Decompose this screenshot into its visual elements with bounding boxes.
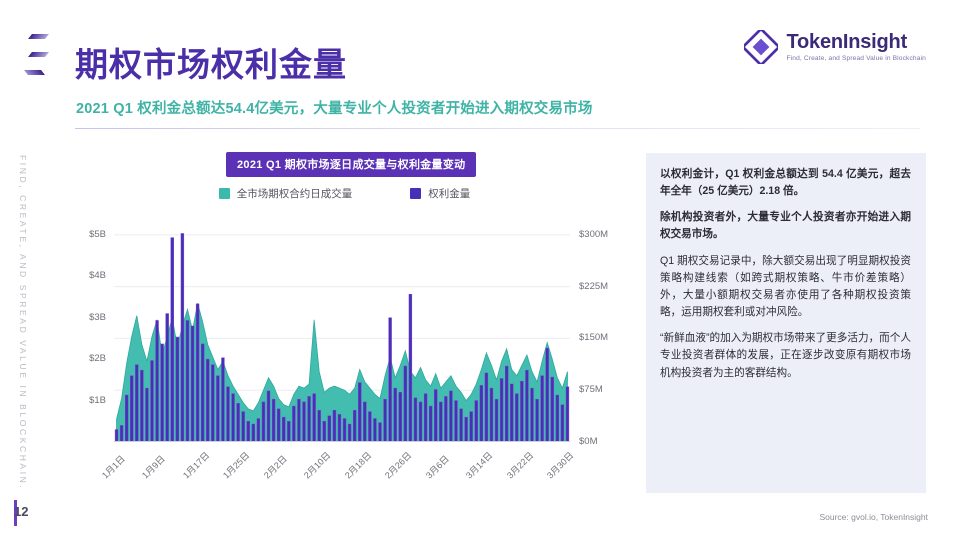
chart-bar [146, 388, 149, 442]
legend-label: 全市场期权合约日成交量 [237, 186, 353, 201]
chart-bar [313, 394, 316, 442]
chart-bar [566, 387, 569, 442]
chart-bar [353, 410, 356, 442]
chart-bar [546, 348, 549, 442]
chart-bar [384, 399, 387, 442]
chart-bar [485, 373, 488, 442]
chart-bar [348, 424, 351, 442]
chart-bar [424, 394, 427, 442]
chart-bar [520, 381, 523, 442]
chart-bar [399, 392, 402, 442]
header-divider [75, 128, 920, 129]
tokeninsight-logo-icon [744, 30, 778, 64]
x-tick-label: 1月1日 [98, 452, 127, 481]
chart-bar [120, 425, 123, 442]
legend-swatch-icon [410, 188, 421, 199]
chart-bar [115, 430, 118, 442]
chart-bar [404, 366, 407, 442]
x-tick-label: 3月30日 [544, 449, 577, 482]
chart-bar [247, 421, 250, 442]
chart-bar [480, 385, 483, 442]
brand-logo: TokenInsight Find, Create, and Spread Va… [744, 30, 926, 64]
x-tick-label: 1月25日 [220, 449, 253, 482]
chart-bar [333, 410, 336, 442]
chart-bar [409, 294, 412, 442]
chart-bar [551, 377, 554, 442]
page-subtitle: 2021 Q1 权利金总额达54.4亿美元，大量专业个人投资者开始进入期权交易市… [76, 97, 593, 118]
chart-bar [460, 409, 463, 442]
chart-y-axis-left: $1B$2B$3B$4B$5B [62, 210, 110, 442]
chart-bar [414, 398, 417, 442]
chart-bar [262, 402, 265, 442]
chart-bar [292, 406, 295, 442]
chart-plot-area [114, 210, 570, 442]
chart-bar [282, 417, 285, 442]
x-tick-label: 1月17日 [179, 449, 212, 482]
y-tick-right: $225M [579, 281, 608, 292]
chart-bar [475, 401, 478, 442]
chart-bar [257, 419, 260, 442]
chart-bar [338, 414, 341, 442]
chart-bar [267, 391, 270, 442]
x-tick-label: 3月14日 [463, 449, 496, 482]
chart-bar [277, 409, 280, 442]
legend-label: 权利金量 [428, 186, 470, 201]
chart-bar [206, 359, 209, 442]
x-tick-label: 3月22日 [503, 449, 536, 482]
chart-bar [541, 376, 544, 442]
chart-bar [161, 344, 164, 442]
slide-root: FIND, CREATE, AND SPREAD VALUE IN BLOCKC… [0, 0, 960, 540]
chart-bar [211, 365, 214, 442]
chart-bar [505, 366, 508, 442]
chart-bar [323, 421, 326, 442]
chart-bar [429, 406, 432, 442]
chart-bar [130, 376, 133, 442]
chart-bar [495, 399, 498, 442]
chart-bar [272, 399, 275, 442]
chart-bar [363, 402, 366, 442]
chart-bar [358, 383, 361, 442]
chart-bar [434, 390, 437, 442]
y-tick-left: $5B [89, 229, 106, 240]
chart-bar [561, 405, 564, 442]
y-tick-right: $150M [579, 332, 608, 343]
y-tick-left: $1B [89, 395, 106, 406]
chart-bar [536, 399, 539, 442]
chart-bar [328, 416, 331, 442]
chart-bar [171, 238, 174, 442]
chart-y-axis-right: $0M$75M$150M$225M$300M [574, 210, 626, 442]
chart-bar [389, 318, 392, 442]
page-title: 期权市场权利金量 [75, 38, 347, 86]
x-tick-label: 2月10日 [301, 449, 334, 482]
chart-bar [308, 396, 311, 442]
y-tick-left: $3B [89, 312, 106, 323]
chart-bar [379, 423, 382, 442]
chart-bar [318, 410, 321, 442]
chart-bar [455, 401, 458, 442]
logo-name: TokenInsight [786, 32, 926, 52]
chart-bar [470, 412, 473, 442]
chart-bar [151, 361, 154, 442]
commentary-paragraph: 以权利金计，Q1 权利金总额达到 54.4 亿美元，超去年全年（25 亿美元）2… [660, 166, 911, 200]
x-tick-label: 3月6日 [422, 452, 451, 481]
chart-bar [287, 421, 290, 442]
chart-bar [556, 395, 559, 442]
chart-bar [374, 419, 377, 442]
y-tick-right: $75M [579, 384, 603, 395]
left-rail: FIND, CREATE, AND SPREAD VALUE IN BLOCKC… [0, 0, 46, 540]
chart-bar [439, 402, 442, 442]
chart-bar [450, 391, 453, 442]
chart-bar [531, 388, 534, 442]
chart-bar [394, 388, 397, 442]
chart-bar [140, 370, 143, 442]
chart-bar [343, 419, 346, 442]
chart-bar [298, 399, 301, 442]
chart-bar [176, 337, 179, 442]
chart-bar [252, 424, 255, 442]
chart-bar [303, 402, 306, 442]
commentary-paragraph: “新鲜血液”的加入为期权市场带来了更多活力，而个人专业投资者群体的发展，正在逐步… [660, 330, 911, 381]
slash-icon-3 [24, 70, 45, 75]
chart-bar [201, 344, 204, 442]
x-tick-label: 2月26日 [382, 449, 415, 482]
chart-bar [222, 358, 225, 442]
chart-bar [156, 320, 159, 442]
y-tick-right: $0M [579, 436, 597, 447]
chart-bar [444, 396, 447, 442]
chart-bar [135, 365, 138, 442]
chart-area-volume [117, 303, 568, 442]
y-tick-left: $2B [89, 353, 106, 364]
chart-bar [490, 388, 493, 442]
chart-title-badge: 2021 Q1 期权市场逐日成交量与权利金量变动 [226, 152, 476, 177]
chart-bar [232, 394, 235, 442]
x-tick-label: 1月9日 [139, 452, 168, 481]
logo-tagline: Find, Create, and Spread Value in Blockc… [786, 56, 926, 63]
y-tick-right: $300M [579, 229, 608, 240]
commentary-paragraph: 除机构投资者外，大量专业个人投资者亦开始进入期权交易市场。 [660, 209, 911, 243]
chart-bar [515, 394, 518, 442]
chart-bar [242, 412, 245, 442]
chart-bar [510, 384, 513, 442]
chart-bar [125, 395, 128, 442]
legend-item[interactable]: 权利金量 [410, 186, 470, 201]
chart-bar [181, 233, 184, 442]
chart-bar [216, 376, 219, 442]
chart-bar [465, 417, 468, 442]
x-tick-label: 2月2日 [260, 452, 289, 481]
page-number: 12 [14, 504, 28, 519]
chart-bar [227, 387, 230, 442]
chart-bar [500, 378, 503, 442]
chart-x-axis: 1月1日1月9日1月17日1月25日2月2日2月10日2月18日2月26日3月6… [114, 444, 570, 492]
chart-bar [196, 304, 199, 442]
chart-bar [191, 326, 194, 442]
chart-bar [368, 412, 371, 442]
commentary-panel: 以权利金计，Q1 权利金总额达到 54.4 亿美元，超去年全年（25 亿美元）2… [646, 153, 926, 493]
chart-bar [166, 314, 169, 442]
chart-bar [186, 320, 189, 442]
x-tick-label: 2月18日 [341, 449, 374, 482]
vertical-brand-tagline: FIND, CREATE, AND SPREAD VALUE IN BLOCKC… [10, 155, 28, 490]
legend-item[interactable]: 全市场期权合约日成交量 [219, 186, 353, 201]
chart-svg [114, 210, 570, 442]
source-note: Source: gvol.io, TokenInsight [819, 512, 928, 522]
commentary-paragraph: Q1 期权交易记录中，除大额交易出现了明显期权投资策略构建线索（如跨式期权策略、… [660, 253, 911, 322]
y-tick-left: $4B [89, 270, 106, 281]
chart-bar [419, 402, 422, 442]
chart-bar [237, 403, 240, 442]
chart-legend: 全市场期权合约日成交量权利金量 [62, 186, 627, 201]
chart-panel: 2021 Q1 期权市场逐日成交量与权利金量变动 全市场期权合约日成交量权利金量… [62, 148, 627, 493]
chart-bar [526, 370, 529, 442]
legend-swatch-icon [219, 188, 230, 199]
